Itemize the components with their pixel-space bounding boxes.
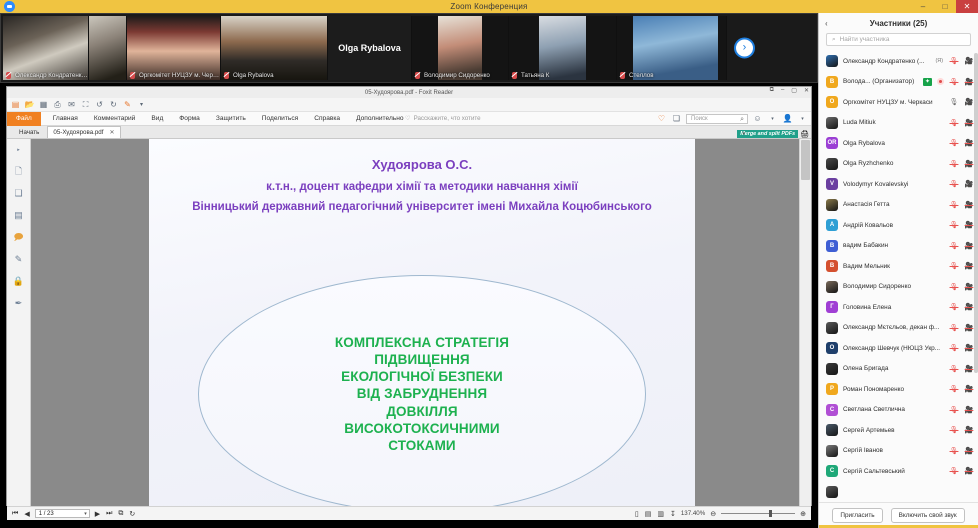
next-page-chevron-right-icon[interactable]: ›: [734, 38, 755, 59]
foxit-title-bar: 05-Худоярова.pdf - Foxit Reader ⧉ – ▢ ✕: [7, 87, 811, 98]
avatar-photo: [826, 486, 838, 498]
participant-row[interactable]: ССветлана Светлична🎙🎥: [819, 400, 978, 421]
foxit-document-title: 05-Худоярова.pdf - Foxit Reader: [365, 90, 453, 96]
avatar-photo: [826, 424, 838, 436]
participant-row[interactable]: VVolodymyr Kovalevskyi🎙🎥: [819, 174, 978, 195]
participants-header: ‹ Участники (25): [819, 13, 978, 33]
video-tiles: Олександр Кондратенко (НУ... Оргкомітет …: [3, 16, 815, 80]
invite-button[interactable]: Пригласить: [832, 508, 882, 523]
merge-split-banner[interactable]: Merge and split PDFs: [737, 130, 798, 138]
search-placeholder: Поиск: [691, 116, 708, 122]
avatar-initials: A: [826, 219, 838, 231]
host-badge-icon: ✦: [923, 78, 932, 86]
foxit-reader-window: 05-Худоярова.pdf - Foxit Reader ⧉ – ▢ ✕ …: [6, 86, 812, 506]
highlight-icon[interactable]: ✎: [122, 99, 133, 110]
status-bar: ⏮ ◀ 1 / 23 ▾ ▶ ⏭ ⧉ ↻ ▯ ▤ ▥ ↧ 137.40% ⊖ ⊕: [7, 506, 811, 520]
mic-off-icon[interactable]: 🎙: [949, 365, 959, 373]
video-tile[interactable]: Olga Rybalova: [221, 16, 328, 80]
avatar-initials: Г: [826, 301, 838, 313]
new-file-icon[interactable]: ▤: [10, 99, 21, 110]
magnifier-icon: ⌕: [740, 116, 744, 124]
video-tile[interactable]: Оргкомітет НУЦЗУ м. Черкаси: [127, 16, 221, 80]
panel-collapse-icon[interactable]: ▸: [12, 143, 26, 156]
account-dropdown-icon[interactable]: ▾: [797, 113, 808, 124]
camera-off-icon[interactable]: 🎥: [964, 344, 974, 352]
mic-off-icon[interactable]: 🎙: [949, 467, 959, 475]
avatar-initials: О: [826, 96, 838, 108]
video-feed: [221, 16, 327, 80]
first-page-button[interactable]: ⏮: [11, 510, 19, 518]
camera-off-icon[interactable]: 🎥: [964, 324, 974, 332]
doc-tab-label: Начать: [19, 129, 39, 136]
doc-tab-label: 05-Худоярова.pdf: [53, 129, 103, 136]
participant-name: Оргкомітет НУЦЗУ м. Черкаси: [843, 99, 944, 106]
participant-row[interactable]: Ввадим Бабакин🎙🎥: [819, 236, 978, 257]
mic-off-icon[interactable]: 🎙: [949, 406, 959, 414]
slide-affiliation: Вінницький державний педагогічний універ…: [149, 197, 695, 217]
zoom-meeting-window: Zoom Конференция – □ ✕ Олександр Кондрат…: [0, 0, 978, 528]
slide-title-line: СТОКАМИ: [335, 437, 509, 454]
video-feed: [633, 16, 718, 80]
video-feed: [127, 16, 220, 80]
participant-name: Татьяна К: [509, 72, 616, 79]
avatar-photo: [826, 281, 838, 293]
slide-title-line: КОМПЛЕКСНА СТРАТЕГІЯ: [335, 334, 509, 351]
participant-name: Олександр Кондратенко (...: [843, 58, 931, 65]
save-icon[interactable]: ▦: [38, 99, 49, 110]
slide-header: Худоярова О.С. к.т.н., доцент кафедри хі…: [149, 139, 695, 217]
lightbulb-icon: ♡: [405, 115, 411, 122]
participant-name: Стеллов: [617, 72, 726, 79]
camera-off-icon[interactable]: 🎥: [964, 426, 974, 434]
avatar-photo: [826, 322, 838, 334]
participant-row[interactable]: AАндрій Ковальов🎙🎥: [819, 215, 978, 236]
participant-row[interactable]: ССергій Сальтевський🎙🎥: [819, 461, 978, 482]
participant-name: Olga Rybalova: [221, 72, 327, 79]
avatar-photo: [826, 363, 838, 375]
slide-title-line: ДОВКІЛЛЯ: [335, 403, 509, 420]
participant-row[interactable]: ООлександр Шевчук (НЮЦЗ Укр...🎙🎥: [819, 338, 978, 359]
page-number-value: 1 / 23: [39, 511, 54, 517]
slide-title-line: ВІД ЗАБРУДНЕННЯ: [335, 385, 509, 402]
pdf-page-area[interactable]: Худоярова О.С. к.т.н., доцент кафедри хі…: [31, 139, 799, 506]
foxit-window-controls: ⧉ – ▢ ✕: [770, 87, 809, 94]
recording-dot-icon: [937, 78, 944, 85]
video-tile[interactable]: Стеллов: [617, 16, 727, 80]
participant-row[interactable]: Анастасія Гетта🎙🎥: [819, 195, 978, 216]
maximize-button[interactable]: □: [934, 0, 956, 13]
participant-row[interactable]: ООргкомітет НУЦЗУ м. Черкаси🎙🎥: [819, 92, 978, 113]
next-page-button[interactable]: ▶: [94, 510, 101, 518]
doc-tab-start[interactable]: Начать: [13, 126, 45, 138]
camera-off-icon[interactable]: 🎥: [964, 447, 974, 455]
participant-name: Головина Елена: [843, 304, 944, 311]
foxit-maximize-button[interactable]: ▢: [791, 87, 797, 94]
tab-form[interactable]: Форма: [171, 115, 208, 122]
participant-name: Сергій Сальтевський: [843, 468, 944, 475]
participant-search-wrap: ⌕ Найти участника: [819, 33, 978, 51]
video-feed: [3, 16, 88, 80]
participant-name: Анастасія Гетта: [843, 201, 944, 208]
self-badge: (Я): [936, 58, 943, 64]
participant-name: Олександр Шевчук (НЮЦЗ Укр...: [843, 345, 944, 352]
favorite-heart-icon[interactable]: ♡: [656, 113, 667, 124]
mic-off-icon[interactable]: 🎙: [949, 385, 959, 393]
foxit-minimize-button[interactable]: –: [781, 87, 784, 94]
slide-position: к.т.н., доцент кафедри хімії та методики…: [149, 177, 695, 197]
participant-row[interactable]: Олександр Кондратенко (...(Я)🎙🎥: [819, 51, 978, 72]
participants-title: Участники (25): [870, 19, 928, 28]
page-thumbnails-icon[interactable]: 🗋: [12, 165, 26, 178]
layers-icon[interactable]: ▤: [12, 209, 26, 222]
camera-off-icon[interactable]: 🎥: [964, 139, 974, 147]
document-tab-bar: Начать 05-Худоярова.pdf ✕ Merge and spli…: [7, 126, 811, 139]
avatar-initials: OR: [826, 137, 838, 149]
foxit-close-button[interactable]: ✕: [804, 87, 809, 94]
security-lock-icon[interactable]: 🔒: [12, 275, 26, 288]
mic-off-icon[interactable]: 🎙: [949, 324, 959, 332]
mic-off-icon[interactable]: 🎙: [949, 242, 959, 250]
participant-row[interactable]: ВВадим Мельник🎙🎥: [819, 256, 978, 277]
avatar-initials: V: [826, 178, 838, 190]
participant-name: Володимир Сидоренко: [843, 283, 944, 290]
slide-author: Худоярова О.С.: [149, 154, 695, 177]
participant-row[interactable]: OROlga Rybalova🎙🎥: [819, 133, 978, 154]
camera-off-icon[interactable]: 🎥: [964, 385, 974, 393]
participant-name: Вадим Мельник: [843, 263, 944, 270]
banner-printer-icon: 🖨: [800, 130, 809, 138]
zoom-level-value: 137.40%: [681, 510, 705, 517]
slide-title-line: ПІДВИЩЕННЯ: [335, 351, 509, 368]
participant-name: Роман Пономаренко: [843, 386, 944, 393]
video-filmstrip: Олександр Кондратенко (НУ... Оргкомітет …: [0, 13, 818, 83]
open-file-icon[interactable]: 📂: [24, 99, 35, 110]
avatar-photo: [826, 55, 838, 67]
tell-me-box[interactable]: ♡ Расскажите, что хотите: [405, 115, 481, 122]
mic-off-icon[interactable]: 🎙: [949, 303, 959, 311]
status-right-tools: ▯ ▤ ▥ ↧ 137.40% ⊖ ⊕: [634, 510, 807, 518]
pdf-slide: Худоярова О.С. к.т.н., доцент кафедри хі…: [149, 139, 695, 506]
rotate-icon[interactable]: ↻: [128, 510, 136, 518]
camera-off-icon[interactable]: 🎥: [964, 201, 974, 209]
window-controls: – □ ✕: [912, 0, 978, 13]
facing-icon[interactable]: ▥: [656, 510, 665, 518]
participant-row[interactable]: Сергій Іванов🎙🎥: [819, 441, 978, 462]
slide-title-line: ЕКОЛОГІЧНОЇ БЕЗПЕКИ: [335, 368, 509, 385]
navigation-panel: ▸ 🗋 ❑ ▤ 🗩 ✎ 🔒 ✒: [7, 139, 31, 506]
participant-row[interactable]: РРоман Пономаренко🎙🎥: [819, 379, 978, 400]
email-icon[interactable]: ✉: [66, 99, 77, 110]
tab-advanced[interactable]: Дополнительно: [348, 115, 411, 122]
tab-file[interactable]: Файл: [7, 112, 41, 126]
mic-off-icon[interactable]: 🎙: [949, 447, 959, 455]
avatar-photo: [826, 445, 838, 457]
zoom-title-bar: Zoom Конференция: [0, 0, 978, 13]
prev-page-button[interactable]: ◀: [23, 510, 30, 518]
redo-icon[interactable]: ↻: [108, 99, 119, 110]
mic-off-icon[interactable]: 🎙: [949, 78, 959, 86]
avatar-initials: В: [826, 260, 838, 272]
document-viewport: ▸ 🗋 ❑ ▤ 🗩 ✎ 🔒 ✒ Худоярова О.С. к.т.н., д…: [7, 139, 811, 506]
video-tile[interactable]: Татьяна К: [509, 16, 617, 80]
zoom-in-button[interactable]: ⊕: [799, 510, 807, 518]
camera-off-icon[interactable]: 🎥: [964, 262, 974, 270]
video-tile[interactable]: Олександр Кондратенко (НУ...: [3, 16, 89, 80]
participant-name: Volodymyr Kovalevskyi: [843, 181, 944, 188]
video-feed: [89, 16, 126, 80]
avatar-initials: Р: [826, 383, 838, 395]
participant-name: Волода... (Организатор): [843, 78, 918, 85]
video-tile[interactable]: [89, 16, 127, 80]
window-title: Zoom Конференция: [450, 2, 527, 11]
mic-off-icon[interactable]: 🎙: [949, 283, 959, 291]
avatar-photo: [826, 199, 838, 211]
avatar-initials: С: [826, 404, 838, 416]
foxit-restore-button[interactable]: ⧉: [770, 87, 774, 94]
participant-name: Olga Rybalova: [338, 43, 401, 53]
video-feed: [539, 16, 586, 80]
mic-off-icon[interactable]: 🎙: [949, 139, 959, 147]
participant-name: Сергій Іванов: [843, 447, 944, 454]
tell-me-label: Расскажите, что хотите: [414, 115, 481, 122]
participant-row[interactable]: ВВолода... (Организатор)✦🎙🎥: [819, 72, 978, 93]
help-dropdown-icon[interactable]: ▾: [767, 113, 778, 124]
participant-row[interactable]: Володимир Сидоренко🎙🎥: [819, 277, 978, 298]
camera-off-icon[interactable]: 🎥: [964, 242, 974, 250]
mic-off-icon[interactable]: 🎙: [949, 57, 959, 65]
mic-off-icon[interactable]: 🎙: [949, 180, 959, 188]
ribbon-tabs: Файл Главная Комментарий Вид Форма Защит…: [7, 112, 811, 126]
doc-tab-pdf[interactable]: 05-Худоярова.pdf ✕: [47, 126, 120, 138]
participant-name: Олександр Кондратенко (НУ...: [3, 72, 88, 79]
camera-off-icon[interactable]: 🎥: [964, 365, 974, 373]
participant-row[interactable]: ГГоловина Елена🎙🎥: [819, 297, 978, 318]
camera-off-icon[interactable]: 🎥: [964, 119, 974, 127]
avatar-initials: В: [826, 240, 838, 252]
participant-name: Оргкомітет НУЦЗУ м. Черкаси: [127, 72, 220, 79]
tab-share[interactable]: Поделиться: [254, 115, 306, 122]
camera-off-icon[interactable]: 🎥: [964, 406, 974, 414]
participant-name: Олександр Мєтєльов, декан ф...: [843, 324, 944, 331]
scrollbar-thumb[interactable]: [801, 140, 810, 180]
help-icon[interactable]: ☺: [752, 113, 763, 124]
camera-off-icon[interactable]: 🎥: [964, 283, 974, 291]
camera-off-icon[interactable]: 🎥: [964, 160, 974, 168]
compare-icon[interactable]: ❏: [671, 113, 682, 124]
participant-list-scrollbar[interactable]: [974, 53, 978, 373]
zoom-slider-knob[interactable]: [769, 510, 772, 517]
last-page-button[interactable]: ⏭: [105, 510, 113, 518]
page-vertical-scrollbar[interactable]: [799, 139, 811, 506]
chevron-left-icon[interactable]: ‹: [825, 19, 828, 28]
participant-row[interactable]: [819, 482, 978, 503]
camera-on-icon[interactable]: 🎥: [964, 57, 974, 65]
camera-off-icon[interactable]: 🎥: [964, 221, 974, 229]
doc-tab-close-icon[interactable]: ✕: [109, 129, 114, 136]
print-icon[interactable]: ⎙: [52, 99, 63, 110]
search-input[interactable]: Поиск ⌕: [686, 114, 748, 124]
participant-name: Олена Бригада: [843, 365, 944, 372]
participant-name: Сергей Артемьев: [843, 427, 944, 434]
video-tile[interactable]: Володимир Сидоренко: [412, 16, 509, 80]
quick-access-toolbar: ▤ 📂 ▦ ⎙ ✉ ⛶ ↺ ↻ ✎ ▾: [7, 98, 811, 112]
tab-help[interactable]: Справка: [306, 115, 348, 122]
account-icon[interactable]: 👤: [782, 113, 793, 124]
mic-off-icon[interactable]: 🎙: [949, 160, 959, 168]
participant-name: Андрій Ковальов: [843, 222, 944, 229]
participant-name: Володимир Сидоренко: [412, 72, 508, 79]
camera-off-icon[interactable]: 🎥: [964, 303, 974, 311]
avatar-initials: О: [826, 342, 838, 354]
video-feed: [438, 16, 482, 80]
magnifier-icon: ⌕: [832, 36, 836, 44]
participant-name: Luda Mitiuk: [843, 119, 944, 126]
minimize-button[interactable]: –: [912, 0, 934, 13]
participant-row[interactable]: Сергей Артемьев🎙🎥: [819, 420, 978, 441]
zoom-slider[interactable]: [721, 513, 795, 514]
mic-off-icon[interactable]: 🎙: [949, 201, 959, 209]
participant-row[interactable]: Олександр Мєтєльов, декан ф...🎙🎥: [819, 318, 978, 339]
tabbar-dropdown-icon[interactable]: ▾: [742, 131, 745, 137]
search-placeholder: Найти участника: [840, 36, 890, 43]
slide-title-oval: КОМПЛЕКСНА СТРАТЕГІЯ ПІДВИЩЕННЯ ЕКОЛОГІЧ…: [198, 275, 646, 506]
single-page-icon[interactable]: ▯: [634, 510, 640, 518]
fit-page-icon[interactable]: ⧉: [117, 510, 124, 518]
participant-row[interactable]: Olga Ryzhchenko🎙🎥: [819, 154, 978, 175]
camera-on-icon[interactable]: 🎥: [964, 180, 974, 188]
participant-row[interactable]: Luda Mitiuk🎙🎥: [819, 113, 978, 134]
signature-icon[interactable]: ✒: [12, 297, 26, 310]
tab-protect[interactable]: Защитить: [208, 115, 254, 122]
snapshot-icon[interactable]: ⛶: [80, 99, 91, 110]
page-dropdown-icon[interactable]: ▾: [84, 511, 87, 517]
video-tile-name-only[interactable]: Olga Rybalova: [328, 16, 412, 80]
avatar-initials: С: [826, 465, 838, 477]
zoom-logo-icon: [4, 1, 15, 12]
mic-off-icon[interactable]: 🎙: [949, 119, 959, 127]
participant-list[interactable]: Олександр Кондратенко (...(Я)🎙🎥ВВолода..…: [819, 51, 978, 502]
qat-dropdown-icon[interactable]: ▾: [136, 99, 147, 110]
participant-name: вадим Бабакин: [843, 242, 944, 249]
tab-view[interactable]: Вид: [143, 115, 171, 122]
avatar-initials: В: [826, 76, 838, 88]
fit-width-icon[interactable]: ↧: [669, 510, 677, 518]
tab-comment[interactable]: Комментарий: [86, 115, 144, 122]
attachments-icon[interactable]: ✎: [12, 253, 26, 266]
slide-title: КОМПЛЕКСНА СТРАТЕГІЯ ПІДВИЩЕННЯ ЕКОЛОГІЧ…: [335, 334, 509, 455]
comments-icon[interactable]: 🗩: [12, 231, 26, 244]
zoom-out-button[interactable]: ⊖: [709, 510, 717, 518]
unmute-button[interactable]: Включить свой звук: [891, 508, 965, 523]
mic-off-icon[interactable]: 🎙: [949, 344, 959, 352]
mic-off-icon[interactable]: 🎙: [949, 262, 959, 270]
participants-panel: ‹ Участники (25) ⌕ Найти участника Олекс…: [818, 13, 978, 528]
participant-row[interactable]: Олена Бригада🎙🎥: [819, 359, 978, 380]
mic-off-icon[interactable]: 🎙: [949, 426, 959, 434]
mic-on-icon[interactable]: 🎙: [949, 98, 959, 106]
continuous-icon[interactable]: ▤: [644, 510, 653, 518]
participant-name: Светлана Светлична: [843, 406, 944, 413]
avatar-photo: [826, 158, 838, 170]
camera-off-icon[interactable]: 🎥: [964, 467, 974, 475]
bookmarks-icon[interactable]: ❑: [12, 187, 26, 200]
participant-name: Olga Rybalova: [843, 140, 944, 147]
ribbon-right-tools: ♡ ❏ Поиск ⌕ ☺ ▾ 👤 ▾: [656, 113, 808, 124]
mic-off-icon[interactable]: 🎙: [949, 221, 959, 229]
participant-search-input[interactable]: ⌕ Найти участника: [826, 33, 971, 46]
page-number-input[interactable]: 1 / 23 ▾: [35, 509, 90, 518]
camera-on-icon[interactable]: 🎥: [964, 98, 974, 106]
tab-home[interactable]: Главная: [45, 115, 86, 122]
close-button[interactable]: ✕: [956, 0, 978, 13]
camera-off-icon[interactable]: 🎥: [964, 78, 974, 86]
participant-name: Olga Ryzhchenko: [843, 160, 944, 167]
avatar-photo: [826, 117, 838, 129]
undo-icon[interactable]: ↺: [94, 99, 105, 110]
slide-title-line: ВИСОКОТОКСИЧНИМИ: [335, 420, 509, 437]
